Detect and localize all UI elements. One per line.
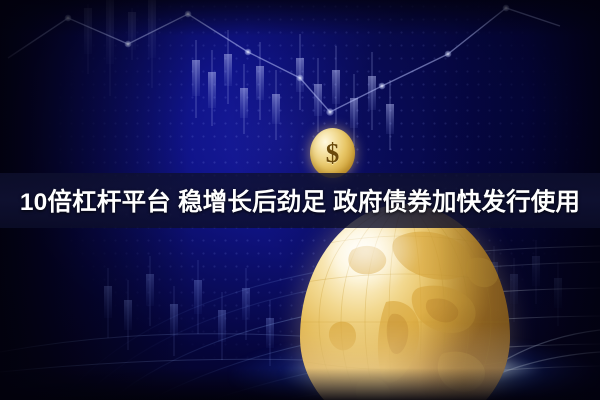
banner-image: $ 10倍杠杆平台 稳增长后劲足 政府债券加快发行使用 — [0, 0, 600, 400]
headline-band: 10倍杠杆平台 稳增长后劲足 政府债券加快发行使用 — [0, 173, 600, 228]
page-title: 10倍杠杆平台 稳增长后劲足 政府债券加快发行使用 — [0, 183, 600, 218]
